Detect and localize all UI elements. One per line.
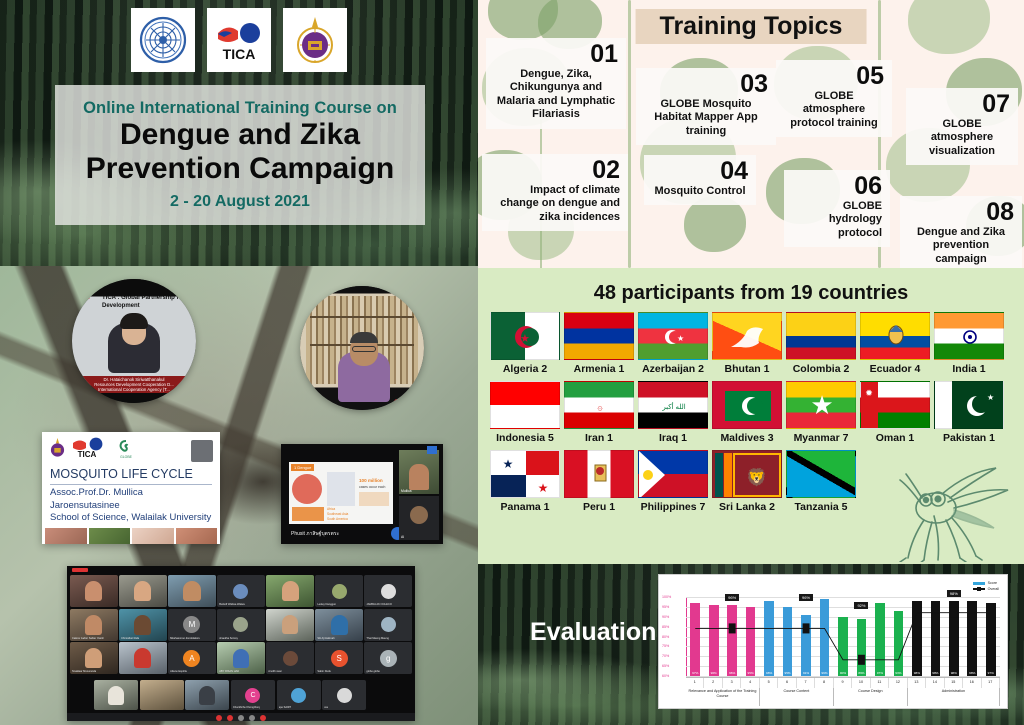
chart-bar-slot: 97% bbox=[871, 597, 889, 676]
chart-bar-value: 98% bbox=[969, 671, 975, 675]
bubble-caption-line-3: International Cooperation Agency (T... bbox=[75, 387, 193, 392]
flag-peru bbox=[564, 450, 634, 498]
flag-philippines bbox=[638, 450, 708, 498]
course-dates: 2 - 20 August 2021 bbox=[170, 193, 310, 211]
webinar-bullet-2: Southeast Asia bbox=[327, 512, 348, 516]
country-cell-ecuador[interactable]: Ecuador 4 bbox=[860, 312, 930, 375]
chart-bar[interactable]: 95% bbox=[783, 607, 793, 676]
chart-x-tick: 15 bbox=[945, 678, 963, 688]
country-cell-iraq[interactable]: الله أكبر Iraq 1 bbox=[638, 381, 708, 444]
chart-x-tick: 3 bbox=[723, 678, 741, 688]
svg-text:الله أكبر: الله أكبر bbox=[661, 401, 685, 411]
chart-x-tick: 5 bbox=[760, 678, 778, 688]
zoom-tile-name: Chinralbet Rafa bbox=[121, 637, 139, 640]
svg-text:★: ★ bbox=[503, 457, 514, 471]
webinar-audio-icon bbox=[427, 446, 437, 454]
webinar-thumb-2[interactable]: AI bbox=[399, 496, 439, 540]
topic-text-05: GLOBE atmosphere protocol training bbox=[784, 90, 884, 130]
svg-text:۞: ۞ bbox=[597, 402, 603, 412]
svg-text:✹: ✹ bbox=[865, 388, 873, 398]
flag-indonesia bbox=[490, 381, 560, 429]
flag-label-pakistan: Pakistan 1 bbox=[934, 432, 1004, 444]
flag-myanmar: ★ bbox=[786, 381, 856, 429]
chart-bar[interactable]: 96% bbox=[709, 605, 719, 676]
zoom-tile[interactable]: shaekha Sonrey bbox=[217, 609, 265, 641]
flag-label-oman: Oman 1 bbox=[860, 432, 930, 444]
zoom-mute-icon bbox=[216, 715, 222, 721]
chart-bar-slot: 96% bbox=[704, 597, 722, 676]
chart-bar[interactable]: 97% bbox=[986, 603, 996, 676]
legend-swatch-overall bbox=[973, 588, 985, 590]
webinar-stat-value: 100 million bbox=[359, 478, 383, 483]
zoom-tile[interactable]: Lesley Danggon bbox=[315, 575, 363, 607]
zoom-tile[interactable]: Nnaklaar Mnouranda bbox=[70, 642, 118, 674]
zoom-tile[interactable]: gglobe globe bbox=[364, 642, 412, 674]
flag-oman: ✹ bbox=[860, 381, 930, 429]
zoom-tile[interactable] bbox=[119, 642, 167, 674]
country-cell-sri-lanka[interactable]: 🦁 Sri Lanka 2 bbox=[712, 450, 782, 513]
zoom-share-icon bbox=[249, 715, 255, 721]
chart-bar-slot: 93% bbox=[889, 597, 907, 676]
flag-sri-lanka: 🦁 bbox=[712, 450, 782, 498]
bubble-banner-text: TICA : Global Partnership for Developmen… bbox=[102, 295, 192, 310]
zoom-tile-name: Lesley Danggon bbox=[317, 603, 336, 606]
zoom-tile[interactable]: Siti Aji Halimah bbox=[315, 609, 363, 641]
slide-mosquito-thumbnails bbox=[42, 525, 220, 544]
chart-x-tick: 14 bbox=[926, 678, 944, 688]
legend-item-overall: Overall bbox=[973, 587, 999, 591]
chart-bar[interactable]: 98% bbox=[912, 601, 922, 676]
svg-text:🦁: 🦁 bbox=[746, 467, 767, 487]
topic-card-03[interactable]: 03 GLOBE Mosquito Habitat Mapper App tra… bbox=[636, 68, 776, 145]
chart-y-tick: 85% bbox=[662, 625, 669, 629]
chart-x-tick: 4 bbox=[741, 678, 759, 688]
zoom-tile[interactable]: JAMINA AK OCHACO bbox=[364, 575, 412, 607]
zoom-tile-name: Nnaklaar Mnouranda bbox=[72, 670, 96, 673]
zoom-tile-name: shaekha Sonrey bbox=[219, 637, 238, 640]
flag-label-azerbaijan: Azerbaijan 2 bbox=[638, 363, 708, 375]
zoom-tile[interactable]: Anolth swan bbox=[266, 642, 314, 674]
chart-bar-value: 97% bbox=[988, 671, 994, 675]
slide-affiliation: School of Science, Walailak University bbox=[42, 512, 220, 525]
course-title-line-1: Dengue and Zika bbox=[120, 118, 360, 152]
flag-colombia bbox=[786, 312, 856, 360]
chart-bar[interactable]: 98% bbox=[967, 601, 977, 676]
chart-callout: 98% bbox=[947, 590, 961, 597]
slide-divider bbox=[50, 484, 212, 485]
webinar-bullet-1: Africa bbox=[327, 507, 335, 511]
topic-card-05[interactable]: 05 GLOBE atmosphere protocol training bbox=[776, 60, 892, 137]
topic-number-06: 06 bbox=[792, 174, 882, 199]
chart-x-tick: 17 bbox=[982, 678, 1000, 688]
flag-bhutan bbox=[712, 312, 782, 360]
chart-plot-area: 60%65%70%75%80%85%90%95%100% 97%96%96%95… bbox=[686, 597, 1000, 676]
svg-text:★: ★ bbox=[987, 393, 994, 402]
chart-bar[interactable]: 91% bbox=[801, 615, 811, 676]
country-cell-philippines[interactable]: Philippines 7 bbox=[638, 450, 708, 513]
flag-label-iraq: Iraq 1 bbox=[638, 432, 708, 444]
training-topics-heading: Training Topics bbox=[636, 9, 867, 44]
zoom-tile[interactable] bbox=[94, 680, 138, 710]
chart-y-tick: 80% bbox=[662, 635, 669, 639]
svg-text:★: ★ bbox=[677, 334, 684, 343]
chart-x-axis-groups: Relevance and Application of the Trainin… bbox=[686, 688, 1000, 706]
chart-bar[interactable]: 98% bbox=[764, 601, 774, 676]
flag-label-panama: Panama 1 bbox=[490, 501, 560, 513]
slide-logo-row: TICA GLOBE bbox=[42, 432, 220, 466]
title-card: Online International Training Course on … bbox=[55, 85, 425, 225]
chart-bar-slot: 95% bbox=[741, 597, 759, 676]
flag-label-tanzania: Tanzania 5 bbox=[786, 501, 856, 513]
chart-bar[interactable]: 96% bbox=[727, 605, 737, 676]
svg-text:TICA: TICA bbox=[223, 46, 256, 62]
speaker-video-bubble-2[interactable] bbox=[300, 286, 424, 410]
media-collage-panel: TICA TICA : Global Partnership for Devel… bbox=[0, 266, 478, 725]
chart-x-tick: 10 bbox=[852, 678, 870, 688]
zoom-tile-name: Alisow Espiritu bbox=[170, 670, 187, 673]
flag-label-india: India 1 bbox=[934, 363, 1004, 375]
zoom-video-icon bbox=[227, 715, 233, 721]
flag-label-myanmar: Myanmar 7 bbox=[786, 432, 856, 444]
flag-armenia bbox=[564, 312, 634, 360]
chart-y-tick: 60% bbox=[662, 674, 669, 678]
topic-number-07: 07 bbox=[914, 92, 1010, 117]
flag-label-armenia: Armenia 1 bbox=[564, 363, 634, 375]
zoom-tile-name: Cakrev Jadier Sabier Oarsh bbox=[72, 637, 104, 640]
zoom-tile[interactable]: MMkahasnnoo donoldakoru bbox=[168, 609, 216, 641]
participants-heading: 48 participants from 19 countries bbox=[478, 282, 1024, 305]
topic-card-08[interactable]: 08 Dengue and Zika prevention campaign bbox=[900, 196, 1022, 268]
zoom-leave-icon bbox=[260, 715, 266, 721]
evaluation-heading: Evaluation bbox=[530, 618, 656, 647]
flag-label-sri-lanka: Sri Lanka 2 bbox=[712, 501, 782, 513]
chart-x-tick: 7 bbox=[797, 678, 815, 688]
zoom-tile[interactable]: AAlisow Espiritu bbox=[168, 642, 216, 674]
flag-label-maldives: Maldives 3 bbox=[712, 432, 782, 444]
country-cell-armenia[interactable]: Armenia 1 bbox=[564, 312, 634, 375]
topic-card-01[interactable]: 01 Dengue, Zika, Chikungunya and Malaria… bbox=[486, 38, 626, 129]
chart-y-tick: 70% bbox=[662, 654, 669, 658]
topic-card-07[interactable]: 07 GLOBE atmosphere visualization bbox=[906, 88, 1018, 165]
country-cell-azerbaijan[interactable]: ★ Azerbaijan 2 bbox=[638, 312, 708, 375]
chart-bar[interactable]: 95% bbox=[746, 607, 756, 676]
topic-card-04[interactable]: 04 Mosquito Control bbox=[644, 155, 756, 205]
country-cell-indonesia[interactable]: Indonesia 5 bbox=[490, 381, 560, 444]
flag-label-ecuador: Ecuador 4 bbox=[860, 363, 930, 375]
flag-label-peru: Peru 1 bbox=[564, 501, 634, 513]
logo-row: TICA bbox=[0, 8, 478, 72]
chart-bar-slot: 95% bbox=[778, 597, 796, 676]
zoom-tile-name: Chockfiche Khongthong bbox=[233, 706, 261, 709]
chart-bar-value: 98% bbox=[914, 671, 920, 675]
svg-text:★: ★ bbox=[520, 333, 530, 345]
topic-number-05: 05 bbox=[784, 64, 884, 89]
zoom-tile-name: JAMINA AK OCHACO bbox=[366, 603, 392, 606]
walailak-university-emblem-logo bbox=[283, 8, 347, 72]
topic-text-08: Dengue and Zika prevention campaign bbox=[908, 226, 1014, 266]
chart-bar-value: 95% bbox=[784, 671, 790, 675]
zoom-tile-name: That Maung Maung bbox=[366, 637, 389, 640]
chart-y-tick: 90% bbox=[662, 615, 669, 619]
flag-label-algeria: Algeria 2 bbox=[490, 363, 560, 375]
flag-india bbox=[934, 312, 1004, 360]
chart-y-tick: 65% bbox=[662, 664, 669, 668]
webinar-participant-name: Phusit ภาสิษฐ์บุตรตระ bbox=[291, 530, 339, 538]
chart-bar-slot: 99% bbox=[815, 597, 833, 676]
chart-x-tick: 11 bbox=[871, 678, 889, 688]
chart-bar[interactable]: 99% bbox=[820, 599, 830, 676]
chart-bar-value: 97% bbox=[692, 671, 698, 675]
legend-label-score: Score bbox=[988, 581, 997, 585]
country-cell-maldives[interactable]: Maldives 3 bbox=[712, 381, 782, 444]
evaluation-panel: Evaluation Score Overall 60%65%70%75%80%… bbox=[478, 564, 1024, 725]
topic-text-06: GLOBE hydrology protocol bbox=[792, 200, 882, 240]
chart-bar-value: 98% bbox=[951, 671, 957, 675]
zoom-tile-name: ABY RISAN HAD bbox=[219, 670, 239, 673]
thai-government-emblem-logo bbox=[131, 8, 195, 72]
zoom-tile-name: Siti Aji Halimah bbox=[317, 637, 334, 640]
chart-bar-slot: 97% bbox=[982, 597, 1000, 676]
zoom-gallery-card[interactable]: Burkolf Waliwa Walwa Lesley Danggon JAMI… bbox=[67, 566, 415, 721]
topic-card-02[interactable]: 02 Impact of climate change on dengue an… bbox=[482, 154, 628, 231]
zoom-tile[interactable] bbox=[185, 680, 229, 710]
chart-x-tick: 8 bbox=[815, 678, 833, 688]
chart-bar-slot: 91% bbox=[797, 597, 815, 676]
webinar-thumb-1[interactable]: Mullica bbox=[399, 450, 439, 494]
chart-bar[interactable]: 97% bbox=[690, 603, 700, 676]
title-panel: TICA Online International Training Cours… bbox=[0, 0, 478, 266]
chart-x-tick: 2 bbox=[704, 678, 722, 688]
country-cell-peru[interactable]: Peru 1 bbox=[564, 450, 634, 513]
chart-x-group: Administration bbox=[908, 688, 1000, 706]
flag-label-colombia: Colombia 2 bbox=[786, 363, 856, 375]
zoom-tile[interactable] bbox=[70, 575, 118, 607]
walailak-emblem-icon bbox=[49, 438, 66, 463]
chart-bar-value: 98% bbox=[932, 671, 938, 675]
country-cell-tanzania[interactable]: Tanzania 5 bbox=[786, 450, 856, 513]
flag-maldives bbox=[712, 381, 782, 429]
webinar-slide-tag: 1 Dengue bbox=[291, 464, 314, 471]
chart-bar-slot: 98% bbox=[760, 597, 778, 676]
participants-panel: 48 participants from 19 countries ★ Alge… bbox=[478, 268, 1024, 564]
chart-bar-slot: 98% bbox=[963, 597, 981, 676]
flag-azerbaijan: ★ bbox=[638, 312, 708, 360]
zoom-tile[interactable] bbox=[266, 609, 314, 641]
flag-label-philippines: Philippines 7 bbox=[638, 501, 708, 513]
chart-bar-slot: 89% bbox=[852, 597, 870, 676]
zoom-tile[interactable]: Burkolf Waliwa Walwa bbox=[217, 575, 265, 607]
chart-y-tick: 100% bbox=[662, 595, 671, 599]
chart-x-tick: 1 bbox=[686, 678, 704, 688]
zoom-tile[interactable]: That Maung Maung bbox=[364, 609, 412, 641]
zoom-recording-indicator bbox=[72, 568, 88, 572]
zoom-tile-name: Anolth swan bbox=[268, 670, 282, 673]
chart-callout: 96% bbox=[799, 594, 813, 601]
legend-swatch-score bbox=[973, 582, 985, 585]
svg-text:★: ★ bbox=[810, 390, 833, 420]
chart-bar-slot: 97% bbox=[686, 597, 704, 676]
zoom-tile[interactable]: Chinralbet Rafa bbox=[119, 609, 167, 641]
zoom-participant-grid-row4: CChockfiche Khongthong ape SAIRT cee bbox=[67, 677, 415, 713]
zoom-tile[interactable]: CChockfiche Khongthong bbox=[231, 680, 275, 710]
chart-bar-value: 91% bbox=[803, 671, 809, 675]
chart-x-tick: 12 bbox=[889, 678, 907, 688]
chart-bar-value: 90% bbox=[840, 671, 846, 675]
zoom-tile[interactable]: cee bbox=[322, 680, 366, 710]
chart-x-tick: 16 bbox=[963, 678, 981, 688]
chart-bar[interactable]: 89% bbox=[857, 619, 867, 676]
chart-bar-slot: 98% bbox=[926, 597, 944, 676]
country-cell-colombia[interactable]: Colombia 2 bbox=[786, 312, 856, 375]
country-cell-bhutan[interactable]: Bhutan 1 bbox=[712, 312, 782, 375]
flag-tanzania bbox=[786, 450, 856, 498]
zoom-tile-name: globe globe bbox=[366, 670, 379, 673]
chart-bar[interactable]: 90% bbox=[838, 617, 848, 676]
presentation-slide-card[interactable]: TICA GLOBE MOSQUITO LIFE CYCLE Assoc.Pro… bbox=[42, 432, 220, 544]
chart-bar-slot: 96% bbox=[723, 597, 741, 676]
chart-x-group: Course Design bbox=[834, 688, 908, 706]
zoom-tile[interactable] bbox=[368, 680, 412, 710]
zoom-toolbar[interactable] bbox=[67, 713, 415, 721]
svg-text:★: ★ bbox=[538, 481, 549, 495]
country-cell-iran[interactable]: ۞ Iran 1 bbox=[564, 381, 634, 444]
globe-logo-icon: GLOBE bbox=[116, 438, 136, 464]
country-cell-algeria[interactable]: ★ Algeria 2 bbox=[490, 312, 560, 375]
chart-bar-slot: 90% bbox=[834, 597, 852, 676]
country-cell-myanmar[interactable]: ★ Myanmar 7 bbox=[786, 381, 856, 444]
zoom-participant-grid: Burkolf Waliwa Walwa Lesley Danggon JAMI… bbox=[67, 572, 415, 677]
flag-panama: ★★ bbox=[490, 450, 560, 498]
topic-text-03: GLOBE Mosquito Habitat Mapper App traini… bbox=[644, 98, 768, 138]
topic-text-07: GLOBE atmosphere visualization bbox=[914, 118, 1010, 158]
chart-callout: 96% bbox=[725, 594, 739, 601]
country-cell-india[interactable]: India 1 bbox=[934, 312, 1004, 375]
chart-bar-value: 97% bbox=[877, 671, 883, 675]
chart-x-axis-ticks: 1234567891011121314151617 bbox=[686, 677, 1000, 688]
chart-bar[interactable]: 97% bbox=[875, 603, 885, 676]
zoom-tile-name: Mkahasnnoo donoldakoru bbox=[170, 637, 200, 640]
zoom-participants-icon bbox=[238, 715, 244, 721]
zoom-tile-name: cee bbox=[324, 706, 328, 709]
chart-callout: 92% bbox=[854, 602, 868, 609]
flag-label-indonesia: Indonesia 5 bbox=[490, 432, 560, 444]
flag-iran: ۞ bbox=[564, 381, 634, 429]
flag-label-bhutan: Bhutan 1 bbox=[712, 363, 782, 375]
chart-bar-value: 93% bbox=[895, 671, 901, 675]
topic-text-02: Impact of climate change on dengue and z… bbox=[490, 184, 620, 224]
country-cell-oman[interactable]: ✹ Oman 1 bbox=[860, 381, 930, 444]
flag-pakistan: ★ bbox=[934, 381, 1004, 429]
svg-text:TICA: TICA bbox=[78, 450, 97, 459]
zoom-tile[interactable] bbox=[119, 575, 167, 607]
topic-number-08: 08 bbox=[908, 200, 1014, 225]
topic-number-02: 02 bbox=[490, 158, 620, 183]
chart-x-group: Course Content bbox=[760, 688, 834, 706]
chart-x-group: Relevance and Application of the Trainin… bbox=[686, 688, 760, 706]
chart-bar[interactable]: 98% bbox=[931, 601, 941, 676]
flag-algeria: ★ bbox=[490, 312, 560, 360]
course-kicker: Online International Training Course on bbox=[83, 99, 397, 118]
topic-text-01: Dengue, Zika, Chikungunya and Malaria an… bbox=[494, 68, 618, 122]
training-topics-panel: Training Topics 01 Dengue, Zika, Chikung… bbox=[478, 0, 1024, 268]
zoom-tile[interactable] bbox=[140, 680, 184, 710]
chart-bar-slot: 98% bbox=[908, 597, 926, 676]
webinar-stat-caption: cases occur each bbox=[359, 485, 385, 489]
chart-bars: 97%96%96%95%98%95%91%99%90%89%97%93%98%9… bbox=[686, 597, 1000, 676]
course-title-line-2: Prevention Campaign bbox=[86, 152, 394, 186]
topic-number-04: 04 bbox=[652, 159, 748, 184]
topic-number-01: 01 bbox=[494, 42, 618, 67]
chart-x-tick: 6 bbox=[778, 678, 796, 688]
chart-bar-value: 98% bbox=[766, 671, 772, 675]
webinar-thumb-2-name: AI bbox=[401, 535, 404, 539]
zoom-tile[interactable]: ape SAIRT bbox=[277, 680, 321, 710]
chart-bar-value: 95% bbox=[748, 671, 754, 675]
chart-bar-value: 89% bbox=[858, 671, 864, 675]
tica-logo: TICA bbox=[207, 8, 271, 72]
webinar-thumb-1-name: Mullica bbox=[401, 489, 412, 493]
speaker-video-bubble-1[interactable]: TICA TICA : Global Partnership for Devel… bbox=[72, 279, 196, 403]
mosquito-line-drawing-icon bbox=[890, 466, 1016, 562]
zoom-tile[interactable]: ABY RISAN HAD bbox=[217, 642, 265, 674]
zoom-tile-name: ape SAIRT bbox=[279, 706, 292, 709]
chart-x-tick: 9 bbox=[834, 678, 852, 688]
zoom-tile-name: Burkolf Waliwa Walwa bbox=[219, 603, 244, 606]
chart-x-tick: 13 bbox=[908, 678, 926, 688]
chart-bar-value: 99% bbox=[821, 671, 827, 675]
country-cell-panama[interactable]: ★★ Panama 1 bbox=[490, 450, 560, 513]
evaluation-chart[interactable]: Score Overall 60%65%70%75%80%85%90%95%10… bbox=[658, 574, 1008, 709]
tica-logo-icon: TICA bbox=[71, 437, 111, 464]
zoom-tile-name: Sabin Dudu bbox=[317, 670, 331, 673]
slide-presenter: Assoc.Prof.Dr. Mullica Jaroensutasinee bbox=[42, 487, 220, 512]
flag-ecuador bbox=[860, 312, 930, 360]
topic-text-04: Mosquito Control bbox=[652, 185, 748, 198]
chart-y-tick: 95% bbox=[662, 605, 669, 609]
slide-heading: MOSQUITO LIFE CYCLE bbox=[42, 466, 220, 483]
chart-bar-slot: 98% bbox=[945, 597, 963, 676]
country-cell-pakistan[interactable]: ★ Pakistan 1 bbox=[934, 381, 1004, 444]
topic-card-06[interactable]: 06 GLOBE hydrology protocol bbox=[784, 170, 890, 247]
webinar-bullet-3: South America bbox=[327, 517, 348, 521]
chart-bar[interactable]: 93% bbox=[894, 611, 904, 676]
flag-iraq: الله أكبر bbox=[638, 381, 708, 429]
chart-y-tick: 75% bbox=[662, 644, 669, 648]
chart-legend: Score Overall bbox=[973, 581, 999, 593]
svg-text:GLOBE: GLOBE bbox=[120, 455, 132, 459]
poster-canvas: TICA Online International Training Cours… bbox=[0, 0, 1024, 725]
zoom-tile[interactable] bbox=[168, 575, 216, 607]
chart-bar-value: 96% bbox=[729, 671, 735, 675]
legend-label-overall: Overall bbox=[988, 587, 999, 591]
topic-number-03: 03 bbox=[644, 72, 768, 97]
legend-item-score: Score bbox=[973, 581, 999, 585]
zoom-tile[interactable] bbox=[266, 575, 314, 607]
zoom-tile[interactable]: Cakrev Jadier Sabier Oarsh bbox=[70, 609, 118, 641]
zoom-tile[interactable]: SSabin Dudu bbox=[315, 642, 363, 674]
chart-bar[interactable]: 98% bbox=[949, 601, 959, 676]
flag-label-iran: Iran 1 bbox=[564, 432, 634, 444]
chart-bar-value: 96% bbox=[711, 671, 717, 675]
webinar-screenshare-card[interactable]: 1 Dengue 100 million cases occur each Af… bbox=[281, 444, 443, 544]
